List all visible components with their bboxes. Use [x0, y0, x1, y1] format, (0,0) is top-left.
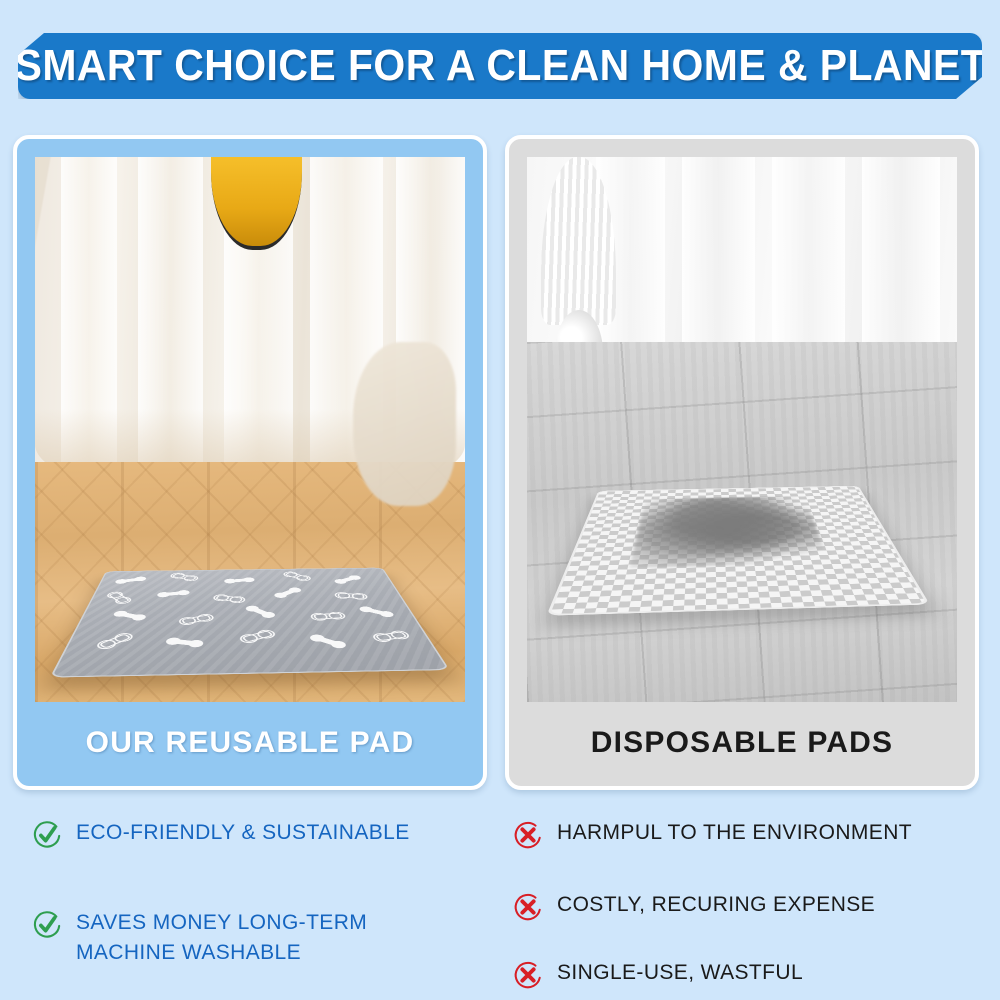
pet-food-bowl: [211, 157, 301, 250]
lamp-shade: [541, 157, 617, 325]
banner-shape: SMART CHOICE FOR A CLEAN HOME & PLANET: [18, 33, 982, 99]
wet-stain: [629, 496, 829, 568]
banner-title: SMART CHOICE FOR A CLEAN HOME & PLANET: [14, 44, 986, 88]
con-item-2: COSTLY, RECURING EXPENSE: [513, 890, 875, 922]
check-circle-icon: [32, 820, 62, 850]
x-circle-icon: [513, 892, 543, 922]
panel-our-reusable-pad: OUR REUSABLE PAD: [13, 135, 487, 790]
check-circle-icon: [32, 910, 62, 940]
caption-right: DISPOSABLE PADS: [509, 700, 975, 786]
x-circle-icon: [513, 960, 543, 990]
photo-reusable-pad: [35, 157, 465, 702]
x-circle-icon: [513, 820, 543, 850]
bone-pattern: [53, 568, 447, 676]
caption-left: OUR REUSABLE PAD: [17, 700, 483, 786]
furniture-blur: [353, 342, 456, 506]
scene-warm-room: [35, 157, 465, 702]
con-item-3: SINGLE-USE, WASTFUL: [513, 958, 803, 990]
panel-disposable-pads: DISPOSABLE PADS: [505, 135, 979, 790]
scene-grey-room: [527, 157, 957, 702]
comparison-panels: OUR REUSABLE PAD DISPO: [0, 135, 1000, 795]
pro-item-label: SAVES MONEY LONG-TERM MACHINE WASHABLE: [76, 908, 367, 968]
con-item-label: HARMPUL TO THE ENVIRONMENT: [557, 818, 912, 848]
pro-item-2: SAVES MONEY LONG-TERM MACHINE WASHABLE: [32, 908, 367, 968]
con-item-label: SINGLE-USE, WASTFUL: [557, 958, 803, 988]
pro-item-label: ECO-FRIENDLY & SUSTAINABLE: [76, 818, 410, 848]
benefit-lists: ECO-FRIENDLY & SUSTAINABLE SAVES MONEY L…: [0, 800, 1000, 1000]
photo-disposable-pad: [527, 157, 957, 702]
reusable-pad: [50, 567, 449, 677]
con-item-1: HARMPUL TO THE ENVIRONMENT: [513, 818, 912, 850]
con-item-label: COSTLY, RECURING EXPENSE: [557, 890, 875, 920]
header-banner: SMART CHOICE FOR A CLEAN HOME & PLANET: [0, 33, 1000, 105]
pro-item-1: ECO-FRIENDLY & SUSTAINABLE: [32, 818, 410, 850]
bowl-body: [211, 157, 301, 250]
